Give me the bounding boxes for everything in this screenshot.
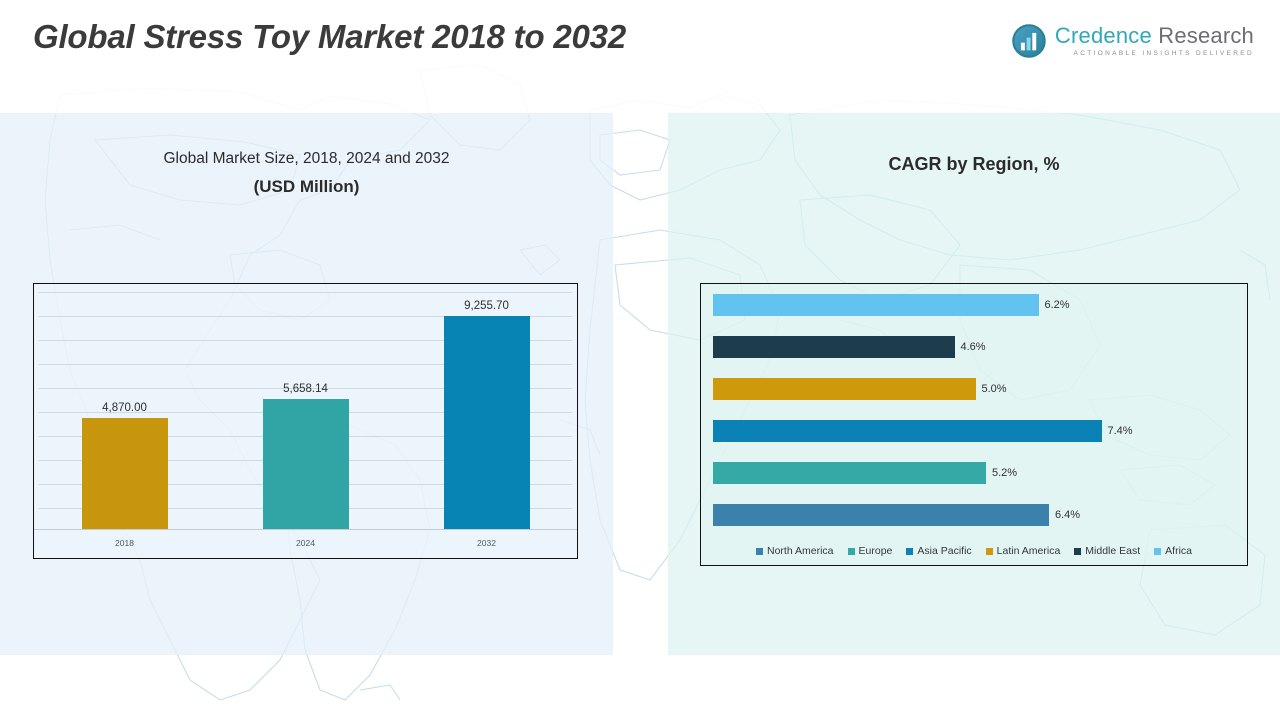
column-axis-tick-label: 2018 <box>35 530 214 558</box>
column-bar-group: 5,658.14 <box>216 292 395 530</box>
left-panel-heading-line2: (USD Million) <box>0 177 613 197</box>
left-panel-heading-line1: Global Market Size, 2018, 2024 and 2032 <box>0 150 613 168</box>
legend-label: Europe <box>859 545 893 557</box>
brand-logo[interactable]: Credence Research Actionable Insights De… <box>1012 24 1254 58</box>
column-axis-tick-label: 2024 <box>216 530 395 558</box>
logo-tagline: Actionable Insights Delivered <box>1055 51 1254 58</box>
horizontal-bar[interactable] <box>713 336 955 358</box>
bar-chart-circle-icon <box>1012 24 1046 58</box>
legend-color-swatch <box>906 548 913 555</box>
horizontal-bar[interactable] <box>713 504 1049 526</box>
legend-label: North America <box>767 545 834 557</box>
horizontal-bar[interactable] <box>713 420 1102 442</box>
legend-color-swatch <box>1074 548 1081 555</box>
legend-label: Asia Pacific <box>917 545 971 557</box>
horizontal-bar[interactable] <box>713 294 1039 316</box>
column-chart-axis-labels: 201820242032 <box>34 530 577 558</box>
bar-row: 4.6% <box>713 336 1241 358</box>
column-bar-group: 9,255.70 <box>397 292 576 530</box>
column-value-label: 5,658.14 <box>283 383 328 395</box>
column-axis-tick-label: 2032 <box>397 530 576 558</box>
legend-color-swatch <box>848 548 855 555</box>
legend-item[interactable]: Asia Pacific <box>906 545 971 557</box>
bar-row: 7.4% <box>713 420 1241 442</box>
legend-label: Middle East <box>1085 545 1140 557</box>
legend-item[interactable]: Africa <box>1154 545 1192 557</box>
cagr-by-region-bar-chart: 6.2%4.6%5.0%7.4%5.2%6.4% North AmericaEu… <box>700 283 1248 566</box>
bar-row: 6.4% <box>713 504 1241 526</box>
page-title: Global Stress Toy Market 2018 to 2032 <box>33 18 626 56</box>
column-chart-plot-area: 4,870.005,658.149,255.70 <box>34 292 577 530</box>
bar-row: 5.2% <box>713 462 1241 484</box>
bar-value-label: 6.4% <box>1055 509 1080 521</box>
logo-text: Credence Research Actionable Insights De… <box>1055 25 1254 58</box>
bar-value-label: 6.2% <box>1045 299 1070 311</box>
legend-color-swatch <box>756 548 763 555</box>
logo-word-credence: Credence <box>1055 23 1152 48</box>
column-bar[interactable] <box>263 399 349 530</box>
logo-wordmark: Credence Research <box>1055 25 1254 47</box>
column-bar-group: 4,870.00 <box>35 292 214 530</box>
column-value-label: 4,870.00 <box>102 402 147 414</box>
legend-item[interactable]: Latin America <box>986 545 1061 557</box>
legend-color-swatch <box>1154 548 1161 555</box>
bar-chart-legend: North AmericaEuropeAsia PacificLatin Ame… <box>701 545 1247 557</box>
legend-item[interactable]: North America <box>756 545 834 557</box>
market-size-column-chart: 4,870.005,658.149,255.70 201820242032 <box>33 283 578 559</box>
horizontal-bar[interactable] <box>713 462 986 484</box>
column-value-label: 9,255.70 <box>464 300 509 312</box>
legend-label: Latin America <box>997 545 1061 557</box>
legend-color-swatch <box>986 548 993 555</box>
legend-label: Africa <box>1165 545 1192 557</box>
horizontal-bar[interactable] <box>713 378 976 400</box>
bar-value-label: 4.6% <box>961 341 986 353</box>
legend-item[interactable]: Europe <box>848 545 893 557</box>
bar-value-label: 7.4% <box>1108 425 1133 437</box>
header-bar: Global Stress Toy Market 2018 to 2032 Cr… <box>0 0 1280 113</box>
column-bar[interactable] <box>82 418 168 530</box>
column-bar[interactable] <box>444 316 530 530</box>
right-panel-heading: CAGR by Region, % <box>668 154 1280 175</box>
logo-word-research: Research <box>1158 23 1254 48</box>
bar-row: 5.0% <box>713 378 1241 400</box>
bar-chart-plot-area: 6.2%4.6%5.0%7.4%5.2%6.4% <box>713 294 1241 526</box>
bar-value-label: 5.0% <box>982 383 1007 395</box>
bar-value-label: 5.2% <box>992 467 1017 479</box>
legend-item[interactable]: Middle East <box>1074 545 1140 557</box>
bar-row: 6.2% <box>713 294 1241 316</box>
